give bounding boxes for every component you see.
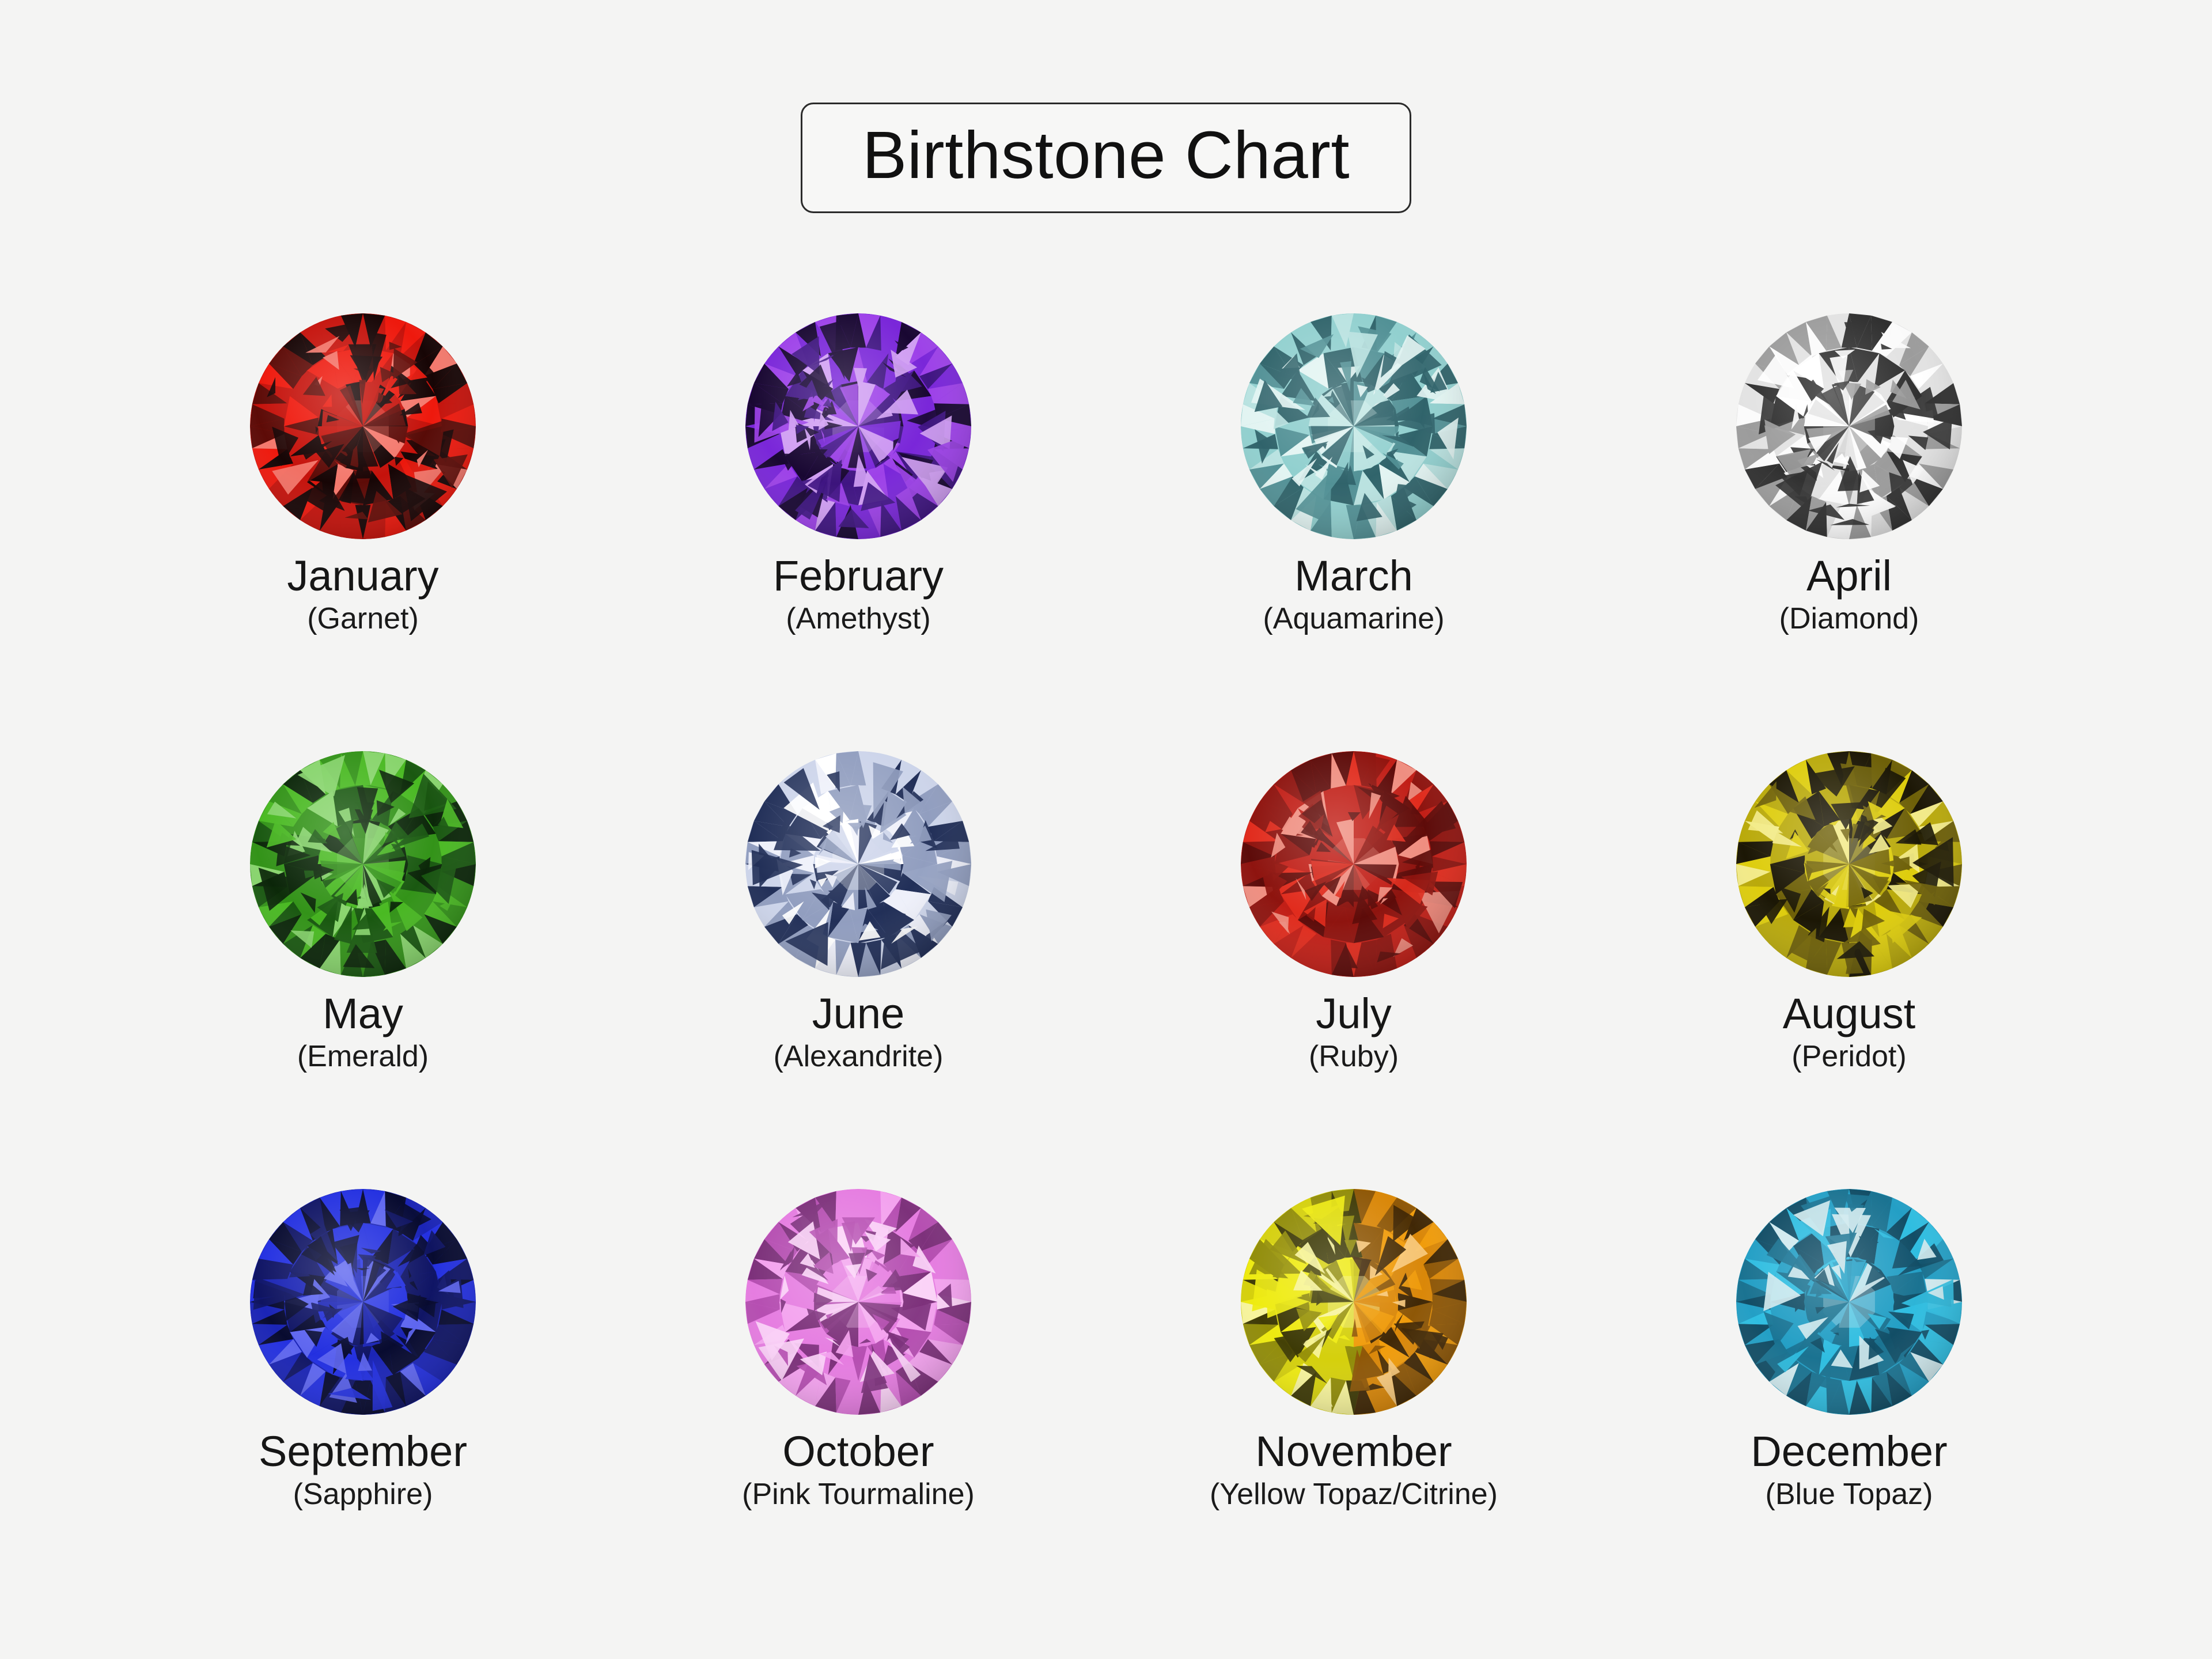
round-brilliant-gem-icon xyxy=(1734,311,1964,541)
stone-name-label: (Pink Tourmaline) xyxy=(611,1478,1106,1512)
round-brilliant-gem-icon xyxy=(248,311,478,541)
birthstone-cell[interactable]: September(Sapphire) xyxy=(115,1187,611,1624)
stone-name-label: (Aquamarine) xyxy=(1106,602,1601,637)
round-brilliant-gem-icon xyxy=(743,1187,974,1417)
birthstone-labels: October(Pink Tourmaline) xyxy=(611,1430,1106,1512)
stone-name-label: (Diamond) xyxy=(1601,602,2097,637)
page-title-container: Birthstone Chart xyxy=(0,103,2212,213)
month-label: April xyxy=(1601,554,2097,597)
birthstone-labels: May(Emerald) xyxy=(115,992,611,1074)
birthstone-labels: December(Blue Topaz) xyxy=(1601,1430,2097,1512)
round-brilliant-gem-icon xyxy=(1238,749,1469,979)
month-label: July xyxy=(1106,992,1601,1035)
month-label: November xyxy=(1106,1430,1601,1473)
month-label: August xyxy=(1601,992,2097,1035)
birthstone-cell[interactable]: March(Aquamarine) xyxy=(1106,311,1601,749)
round-brilliant-gem-icon xyxy=(1734,1187,1964,1417)
birthstone-cell[interactable]: April(Diamond) xyxy=(1601,311,2097,749)
birthstone-labels: March(Aquamarine) xyxy=(1106,554,1601,637)
month-label: September xyxy=(115,1430,611,1473)
stone-name-label: (Sapphire) xyxy=(115,1478,611,1512)
birthstone-labels: January(Garnet) xyxy=(115,554,611,637)
birthstone-cell[interactable]: June(Alexandrite) xyxy=(611,749,1106,1187)
round-brilliant-gem-icon xyxy=(743,311,974,541)
birthstone-grid: January(Garnet) February(Amethyst) March… xyxy=(115,311,2097,1624)
birthstone-labels: September(Sapphire) xyxy=(115,1430,611,1512)
stone-name-label: (Blue Topaz) xyxy=(1601,1478,2097,1512)
month-label: June xyxy=(611,992,1106,1035)
stone-name-label: (Peridot) xyxy=(1601,1040,2097,1074)
birthstone-cell[interactable]: October(Pink Tourmaline) xyxy=(611,1187,1106,1624)
stone-name-label: (Alexandrite) xyxy=(611,1040,1106,1074)
month-label: December xyxy=(1601,1430,2097,1473)
birthstone-labels: July(Ruby) xyxy=(1106,992,1601,1074)
round-brilliant-gem-icon xyxy=(743,749,974,979)
stone-name-label: (Amethyst) xyxy=(611,602,1106,637)
round-brilliant-gem-icon xyxy=(248,749,478,979)
stone-name-label: (Yellow Topaz/Citrine) xyxy=(1106,1478,1601,1512)
birthstone-cell[interactable]: December(Blue Topaz) xyxy=(1601,1187,2097,1624)
birthstone-cell[interactable]: February(Amethyst) xyxy=(611,311,1106,749)
stone-name-label: (Ruby) xyxy=(1106,1040,1601,1074)
birthstone-labels: April(Diamond) xyxy=(1601,554,2097,637)
month-label: February xyxy=(611,554,1106,597)
birthstone-cell[interactable]: November(Yellow Topaz/Citrine) xyxy=(1106,1187,1601,1624)
birthstone-cell[interactable]: May(Emerald) xyxy=(115,749,611,1187)
birthstone-labels: June(Alexandrite) xyxy=(611,992,1106,1074)
birthstone-cell[interactable]: July(Ruby) xyxy=(1106,749,1601,1187)
birthstone-labels: November(Yellow Topaz/Citrine) xyxy=(1106,1430,1601,1512)
round-brilliant-gem-icon xyxy=(248,1187,478,1417)
month-label: March xyxy=(1106,554,1601,597)
birthstone-labels: August(Peridot) xyxy=(1601,992,2097,1074)
round-brilliant-gem-icon xyxy=(1238,311,1469,541)
month-label: January xyxy=(115,554,611,597)
month-label: October xyxy=(611,1430,1106,1473)
stone-name-label: (Garnet) xyxy=(115,602,611,637)
round-brilliant-gem-icon xyxy=(1238,1187,1469,1417)
page-title: Birthstone Chart xyxy=(862,122,1350,188)
birthstone-labels: February(Amethyst) xyxy=(611,554,1106,637)
stone-name-label: (Emerald) xyxy=(115,1040,611,1074)
title-box: Birthstone Chart xyxy=(801,103,1411,213)
round-brilliant-gem-icon xyxy=(1734,749,1964,979)
birthstone-cell[interactable]: January(Garnet) xyxy=(115,311,611,749)
month-label: May xyxy=(115,992,611,1035)
birthstone-cell[interactable]: August(Peridot) xyxy=(1601,749,2097,1187)
